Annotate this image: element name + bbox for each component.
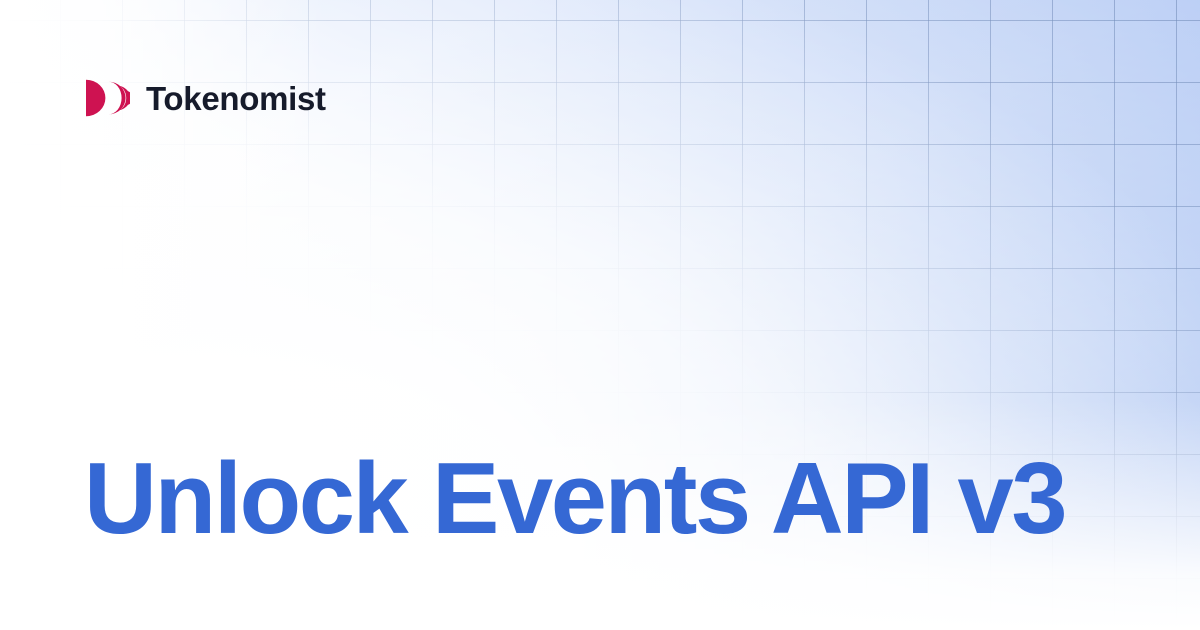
- brand-name: Tokenomist: [146, 82, 326, 115]
- tokenomist-logo-icon: [82, 79, 130, 117]
- page-title: Unlock Events API v3: [84, 446, 1120, 553]
- og-card: Tokenomist Unlock Events API v3: [0, 0, 1200, 630]
- brand-lockup: Tokenomist: [82, 79, 326, 117]
